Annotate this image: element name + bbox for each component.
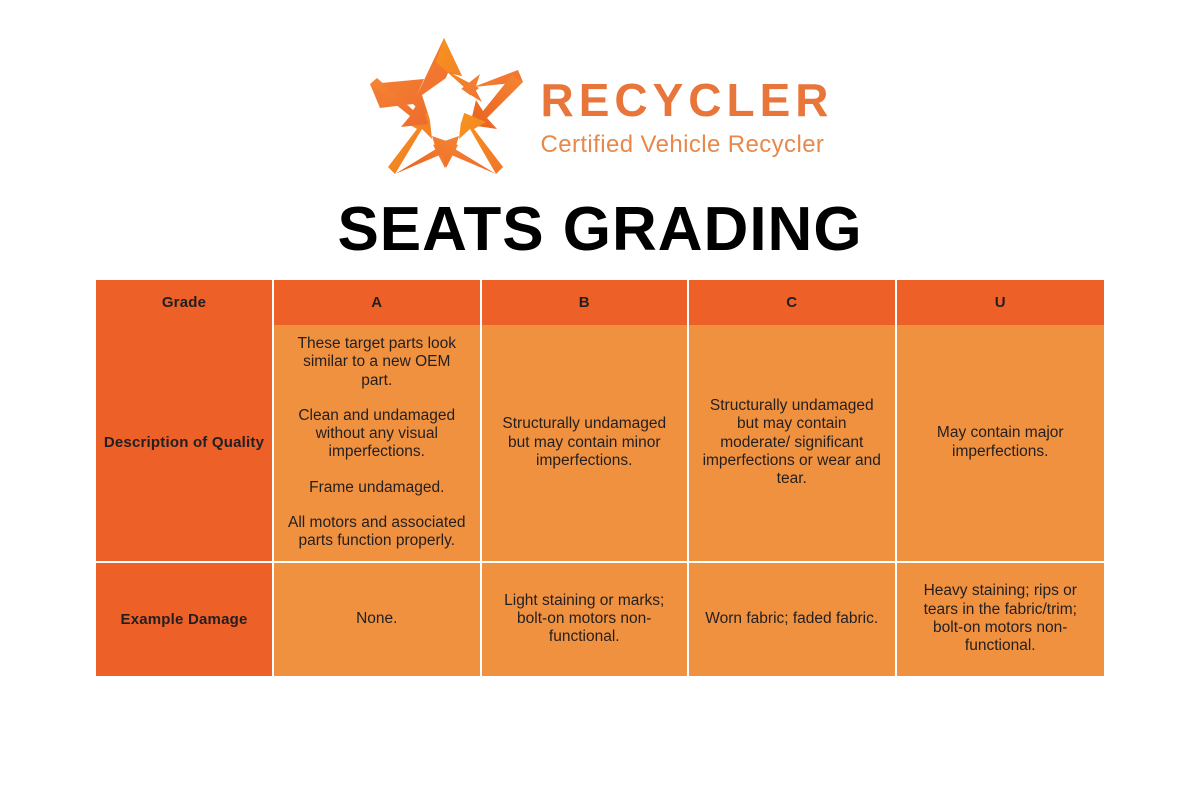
grading-chart-page: RECYCLER Certified Vehicle Recycler SEAT… — [0, 0, 1200, 800]
cell-description-a-para-3: Frame undamaged. — [286, 479, 468, 497]
logo-wordmark: RECYCLER — [540, 76, 833, 124]
cell-example-a: None. — [274, 563, 482, 676]
row-label-example-damage: Example Damage — [96, 563, 274, 676]
logo-tagline: Certified Vehicle Recycler — [540, 131, 824, 160]
header-cell-u: U — [897, 280, 1105, 325]
page-title: SEATS GRADING — [0, 196, 1200, 264]
cell-description-a-para-1: These target parts look similar to a new… — [286, 335, 468, 390]
table-body: Description of Quality These target part… — [96, 325, 1104, 676]
table-row-description-of-quality: Description of Quality These target part… — [96, 325, 1104, 563]
table-row-example-damage: Example Damage None. Light staining or m… — [96, 563, 1104, 676]
cell-description-b-para-1: Structurally undamaged but may contain m… — [494, 415, 676, 470]
header-cell-b: B — [482, 280, 690, 325]
cell-description-u: May contain major imperfections. — [897, 325, 1105, 563]
cell-example-b-para-1: Light staining or marks; bolt-on motors … — [494, 592, 676, 647]
cell-description-a-para-4: All motors and associated parts function… — [286, 514, 468, 551]
cell-example-u-para-1: Heavy staining; rips or tears in the fab… — [909, 582, 1093, 655]
cell-description-a-para-2: Clean and undamaged without any visual i… — [286, 407, 468, 462]
header-cell-grade: Grade — [96, 280, 274, 325]
cell-description-b: Structurally undamaged but may contain m… — [482, 325, 690, 563]
brand-logo: RECYCLER Certified Vehicle Recycler — [0, 30, 1200, 180]
cell-description-a: These target parts look similar to a new… — [274, 325, 482, 563]
header-cell-a: A — [274, 280, 482, 325]
cell-example-c: Worn fabric; faded fabric. — [689, 563, 897, 676]
cell-description-c: Structurally undamaged but may contain m… — [689, 325, 897, 563]
logo-text-block: RECYCLER Certified Vehicle Recycler — [540, 50, 833, 159]
cell-description-u-para-1: May contain major imperfections. — [909, 424, 1093, 461]
table-header: Grade A B C U — [96, 280, 1104, 325]
table-header-row: Grade A B C U — [96, 280, 1104, 325]
recycling-star-icon — [366, 32, 526, 178]
cell-example-c-para-1: Worn fabric; faded fabric. — [701, 610, 883, 628]
row-label-description-of-quality: Description of Quality — [96, 325, 274, 563]
cell-description-c-para-1: Structurally undamaged but may contain m… — [701, 397, 883, 488]
cell-example-a-para-1: None. — [286, 610, 468, 628]
cell-example-u: Heavy staining; rips or tears in the fab… — [897, 563, 1105, 676]
header-cell-c: C — [689, 280, 897, 325]
seats-grading-table: Grade A B C U Description of Quality The… — [96, 280, 1104, 676]
cell-example-b: Light staining or marks; bolt-on motors … — [482, 563, 690, 676]
